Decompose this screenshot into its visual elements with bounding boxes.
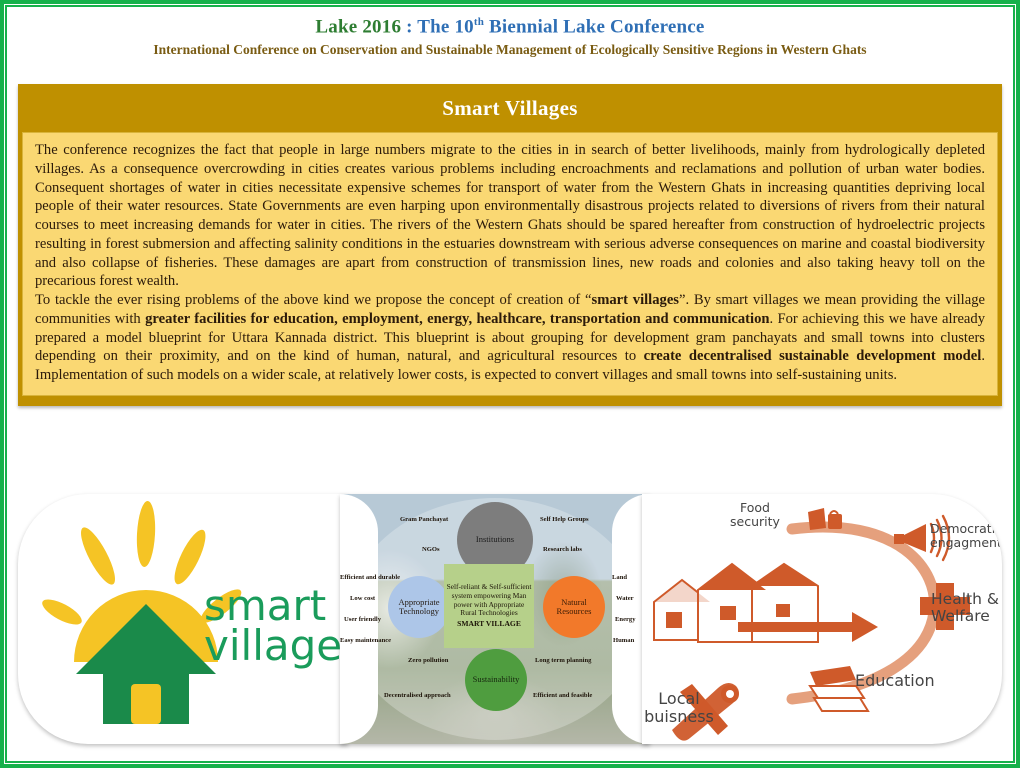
- logo-line-smart: smart: [204, 586, 342, 626]
- label-efficient-feasible: Efficient and feasible: [533, 692, 592, 699]
- p2-bold-model: create decentralised sustainable develop…: [644, 348, 982, 364]
- figure-concept-diagram: Institutions Appropriate Technology Natu…: [340, 494, 650, 744]
- conference-subtitle: International Conference on Conservation…: [8, 42, 1012, 58]
- label-decentralised-approach: Decentralised approach: [384, 692, 451, 699]
- conference-title: Lake 2016 : The 10th Biennial Lake Confe…: [8, 8, 1012, 38]
- figure-strip: smart village Institutions Appropriate T…: [18, 494, 1002, 744]
- slide-page: Lake 2016 : The 10th Biennial Lake Confe…: [8, 8, 1012, 760]
- diagram-node-sustainability[interactable]: Sustainability: [465, 649, 527, 711]
- paragraph-one: The conference recognizes the fact that …: [35, 141, 985, 291]
- label-efficient-durable: Efficient and durable: [340, 574, 400, 581]
- label-human: Human: [613, 637, 634, 644]
- conference-title-pre: : The 10: [401, 16, 474, 37]
- label-water: Water: [616, 595, 634, 602]
- cycle-label-democratic-engagement: Democratic engagment: [930, 522, 1002, 550]
- label-easy-maintenance: Easy maintenance: [340, 637, 391, 644]
- logo-wordmark: smart village: [204, 586, 342, 666]
- center-box-text: Self-reliant & Self-sufficient system em…: [447, 582, 532, 617]
- food-basket-icon: [808, 508, 842, 530]
- label-self-help-groups: Self Help Groups: [540, 516, 589, 523]
- figure-village-cycle: Food security Democratic engagment Healt…: [642, 494, 1002, 744]
- figure-smart-village-logo: smart village: [18, 494, 348, 744]
- cycle-label-education: Education: [855, 672, 935, 690]
- label-energy: Energy: [615, 616, 636, 623]
- conference-title-lake: Lake 2016: [315, 16, 401, 37]
- logo-line-village: village: [204, 626, 342, 666]
- cycle-label-health-welfare: Health & Welfare: [931, 591, 999, 626]
- label-gram-panchayat: Gram Panchayat: [400, 516, 448, 523]
- p2-bold-facilities: greater facilities for education, employ…: [145, 311, 769, 327]
- label-ngos: NGOs: [422, 546, 440, 553]
- label-research-labs: Research labs: [543, 546, 582, 553]
- p2-part-a: To tackle the ever rising problems of th…: [35, 292, 592, 308]
- diagram-node-natural-resources[interactable]: Natural Resources: [543, 576, 605, 638]
- label-long-term-planning: Long term planning: [535, 657, 591, 664]
- center-box-title: SMART VILLAGE: [446, 620, 532, 629]
- conference-title-ordinal: th: [474, 16, 484, 28]
- paragraph-two: To tackle the ever rising problems of th…: [35, 291, 985, 385]
- diagram-node-appropriate-technology[interactable]: Appropriate Technology: [388, 576, 450, 638]
- cycle-label-local-business: Local buisness: [642, 690, 722, 726]
- diagram-center-box: Self-reliant & Self-sufficient system em…: [444, 564, 534, 648]
- label-user-friendly: User friendly: [344, 616, 381, 623]
- conference-title-post: Biennial Lake Conference: [484, 16, 705, 37]
- panel-heading: Smart Villages: [22, 88, 998, 132]
- label-land: Land: [612, 574, 627, 581]
- smart-villages-panel: Smart Villages The conference recognizes…: [18, 84, 1002, 406]
- label-zero-pollution: Zero pollution: [408, 657, 448, 664]
- cycle-label-food-security: Food security: [730, 501, 780, 529]
- label-low-cost: Low cost: [350, 595, 375, 602]
- p2-bold-smart-villages: smart villages: [592, 292, 679, 308]
- conference-header: Lake 2016 : The 10th Biennial Lake Confe…: [8, 8, 1012, 70]
- panel-body: The conference recognizes the fact that …: [22, 132, 998, 396]
